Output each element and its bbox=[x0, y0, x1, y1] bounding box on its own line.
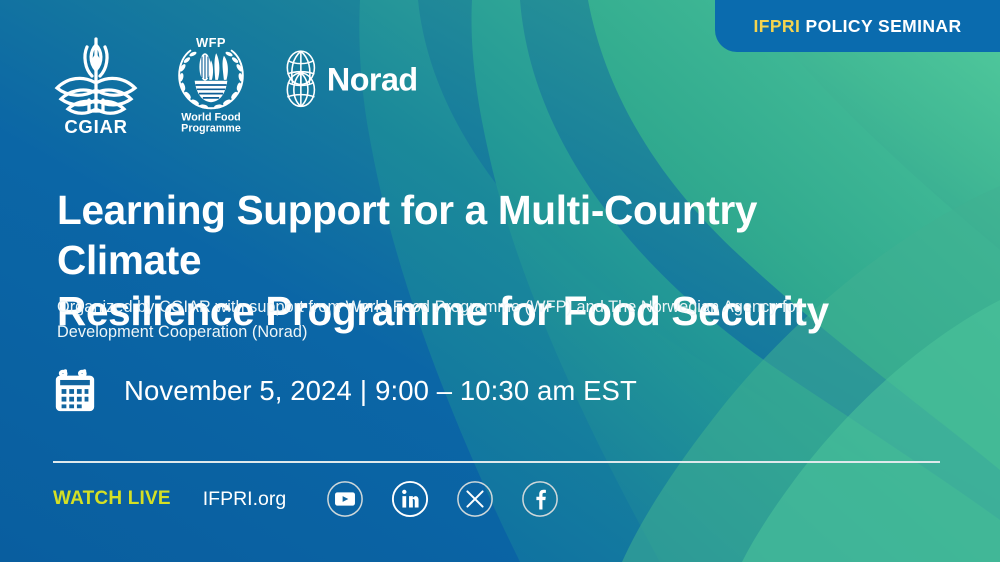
event-time: 9:00 – 10:30 am EST bbox=[375, 375, 637, 406]
facebook-icon[interactable] bbox=[521, 480, 559, 518]
ifpri-policy-seminar-badge: IFPRI POLICY SEMINAR bbox=[715, 0, 1000, 52]
cgiar-logo: CGIAR bbox=[46, 36, 146, 136]
watch-live-label: WATCH LIVE bbox=[53, 488, 171, 510]
linkedin-icon[interactable] bbox=[391, 480, 429, 518]
event-datetime-text: November 5, 2024|9:00 – 10:30 am EST bbox=[124, 375, 637, 407]
youtube-icon[interactable] bbox=[326, 480, 364, 518]
title-line-1: Learning Support for a Multi-Country Cli… bbox=[57, 185, 887, 285]
wfp-logo: WFP bbox=[168, 36, 254, 135]
partner-logos: CGIAR WFP bbox=[46, 36, 452, 146]
event-separator: | bbox=[352, 375, 375, 406]
event-datetime: November 5, 2024|9:00 – 10:30 am EST bbox=[52, 368, 637, 414]
badge-brand: IFPRI bbox=[754, 16, 801, 36]
seminar-banner: IFPRI POLICY SEMINAR bbox=[0, 0, 1000, 562]
calendar-icon bbox=[52, 368, 98, 414]
x-twitter-icon[interactable] bbox=[456, 480, 494, 518]
norad-wordmark: Norad bbox=[327, 62, 418, 98]
badge-subtitle: POLICY SEMINAR bbox=[806, 16, 962, 36]
footer-divider bbox=[53, 461, 940, 463]
svg-text:WFP: WFP bbox=[196, 36, 226, 50]
footer-bar: WATCH LIVE IFPRI.org bbox=[53, 478, 559, 520]
event-date: November 5, 2024 bbox=[124, 375, 352, 406]
cgiar-wordmark: CGIAR bbox=[64, 116, 127, 136]
wfp-label-line2: Programme bbox=[181, 122, 241, 134]
wfp-label-line1: World Food bbox=[181, 111, 240, 123]
badge-label: IFPRI POLICY SEMINAR bbox=[754, 16, 962, 37]
ifpri-website-link[interactable]: IFPRI.org bbox=[203, 488, 286, 511]
norad-logo: Norad bbox=[280, 48, 452, 111]
seminar-subtitle: Organized by CGIAR with support from Wor… bbox=[57, 295, 892, 344]
